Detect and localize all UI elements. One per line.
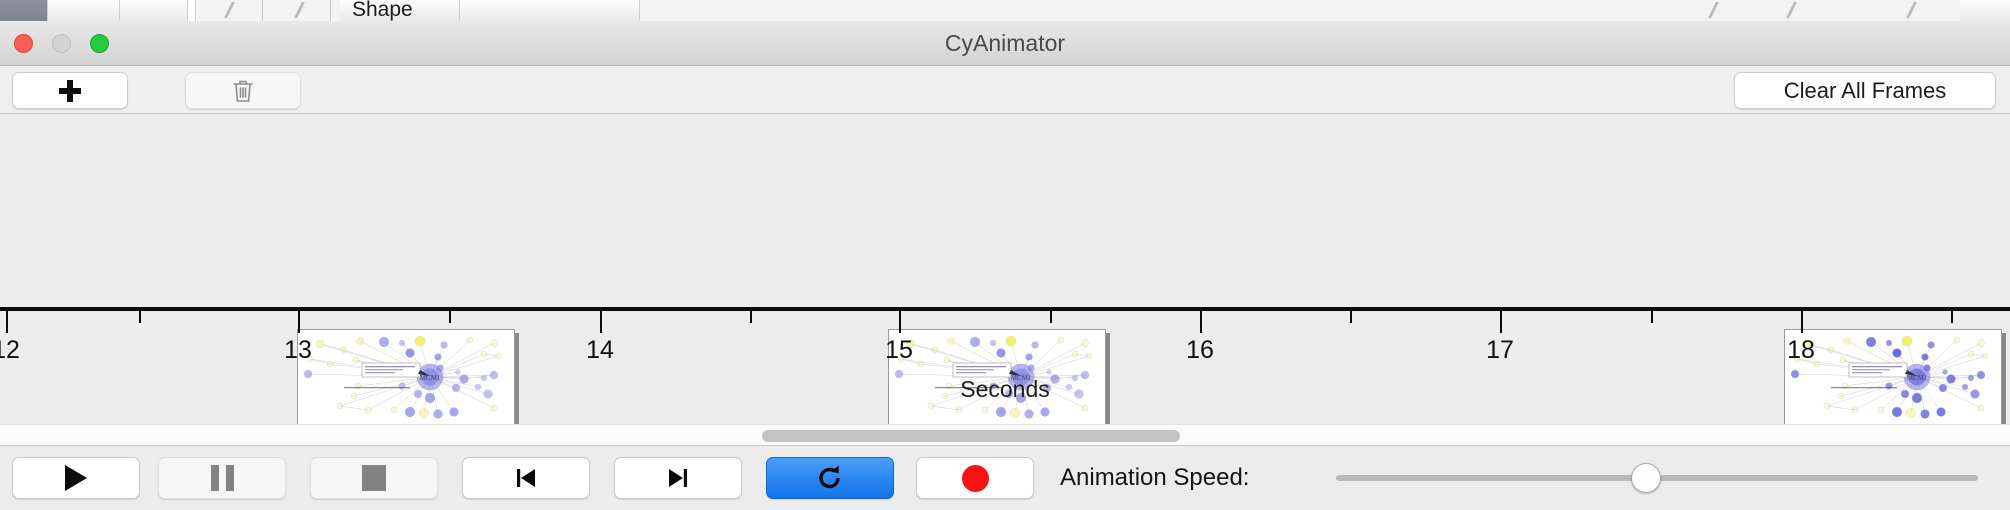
- axis-tick-minor: [1050, 311, 1052, 323]
- skip-to-end-button[interactable]: [614, 457, 742, 499]
- play-icon: [65, 465, 87, 491]
- axis-tick-major: [1500, 311, 1502, 333]
- axis-tick-label: 17: [1486, 336, 1514, 365]
- background-window-strip: Shape: [0, 0, 2010, 22]
- axis-tick-label: 16: [1186, 336, 1214, 365]
- axis-tick-major: [1200, 311, 1202, 333]
- timeline-panel[interactable]: MCM1MCM1MCM1 12131415161718 Seconds: [0, 114, 2010, 424]
- axis-tick-major: [6, 311, 8, 333]
- axis-tick-major: [899, 311, 901, 333]
- record-button[interactable]: [916, 457, 1034, 499]
- timeline-scrollbar[interactable]: [0, 424, 2010, 446]
- add-frame-button[interactable]: [12, 72, 128, 109]
- axis-tick-label: 13: [284, 336, 312, 365]
- axis-tick-major: [600, 311, 602, 333]
- playback-toolbar: Animation Speed:: [0, 447, 2010, 510]
- axis-tick-label: 14: [586, 336, 614, 365]
- animation-speed-label: Animation Speed:: [1060, 457, 1249, 499]
- plus-icon: [59, 80, 81, 102]
- record-icon: [962, 465, 989, 492]
- pause-icon: [211, 465, 234, 491]
- cyanimator-window: Shape CyAnimator Clear All Frames MCM1MC…: [0, 0, 2010, 510]
- axis-tick-label: 12: [0, 336, 20, 365]
- timeline-axis: [0, 307, 2010, 311]
- title-bar: CyAnimator: [0, 21, 2010, 66]
- delete-frame-button[interactable]: [185, 72, 301, 109]
- axis-tick-minor: [449, 311, 451, 323]
- loop-icon: [815, 463, 845, 493]
- axis-tick-label: 18: [1787, 336, 1815, 365]
- axis-tick-minor: [1951, 311, 1953, 323]
- stop-icon: [362, 465, 386, 491]
- play-button[interactable]: [12, 457, 140, 499]
- stop-button[interactable]: [310, 457, 438, 499]
- axis-tick-minor: [750, 311, 752, 323]
- toolbar: Clear All Frames: [0, 66, 2010, 114]
- timeline-track[interactable]: MCM1MCM1MCM1 12131415161718 Seconds: [0, 114, 2010, 424]
- axis-tick-minor: [139, 311, 141, 323]
- loop-button[interactable]: [766, 457, 894, 499]
- background-window-text: Shape: [352, 0, 413, 22]
- clear-all-frames-button[interactable]: Clear All Frames: [1734, 72, 1996, 109]
- scrollbar-thumb[interactable]: [762, 430, 1180, 442]
- axis-tick-label: 15: [885, 336, 913, 365]
- animation-speed-slider[interactable]: [1336, 475, 1978, 481]
- pause-button[interactable]: [158, 457, 286, 499]
- axis-title: Seconds: [0, 376, 2010, 403]
- axis-tick-major: [1801, 311, 1803, 333]
- skip-to-start-button[interactable]: [462, 457, 590, 499]
- skip-back-icon: [513, 465, 539, 491]
- axis-tick-major: [298, 311, 300, 333]
- axis-tick-minor: [1651, 311, 1653, 323]
- slider-thumb[interactable]: [1631, 463, 1661, 493]
- window-title: CyAnimator: [0, 21, 2010, 66]
- axis-tick-minor: [1350, 311, 1352, 323]
- trash-icon: [232, 78, 254, 103]
- skip-forward-icon: [665, 465, 691, 491]
